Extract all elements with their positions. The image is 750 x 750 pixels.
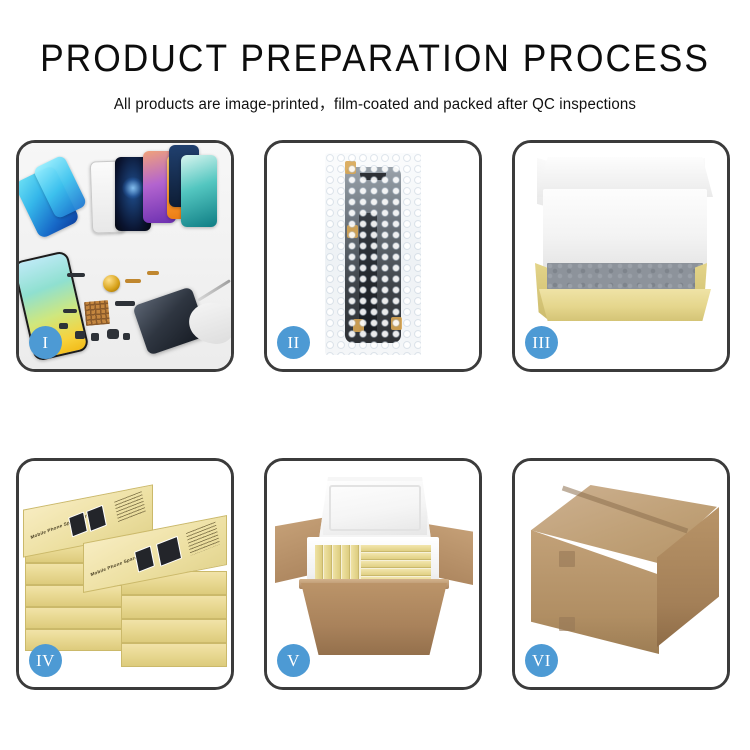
box-edge [121,595,227,619]
packed-box-horizontal [361,553,431,560]
carton-body-icon [301,583,447,655]
component-icon [59,323,68,329]
box-edge [121,619,227,643]
step-panel-5[interactable]: V [264,458,482,690]
box-edge [25,607,123,629]
page-title: PRODUCT PREPARATION PROCESS [26,40,724,78]
packed-box-vertical [324,545,332,583]
component-icon [75,331,85,339]
box-edge [121,643,227,667]
phone-screen-teal-icon [181,155,217,227]
styrofoam-lid-icon [319,477,431,539]
step-badge-6: VI [525,644,558,677]
box-spec-lines [114,491,146,522]
packed-box-horizontal [361,569,431,576]
sealed-carton-icon [531,485,717,657]
packed-box-vertical [342,545,350,583]
grey-foam-padding-icon [547,263,703,291]
carton-tape-lower [559,617,575,631]
packed-box-vertical [351,545,359,583]
packed-box-vertical [315,545,323,583]
ribbon-cable-icon [115,301,135,306]
packed-box-horizontal [361,545,431,552]
step-badge-1: I [29,326,62,359]
carton-tape-upper [559,551,575,567]
box-edge [25,585,123,607]
small-part-icon [67,273,85,277]
connector-chip-icon [84,300,110,326]
packed-box-horizontal [361,561,431,568]
packed-boxes-horizontal-group [361,545,431,583]
step-panel-1[interactable]: I [16,140,234,372]
step-badge-4: IV [29,644,62,677]
step-panel-6[interactable]: VI [512,458,730,690]
header: PRODUCT PREPARATION PROCESS All products… [0,0,750,114]
packed-boxes-area [315,545,431,583]
camera-module-icon [107,329,119,339]
speaker-coil-icon [103,275,120,292]
box-product-thumbnail [86,505,107,532]
bubble-texture-icon [325,153,421,355]
step-panel-2[interactable]: II [264,140,482,372]
box-product-thumbnail [134,545,155,572]
box-stack-icon: Mobile Phone Spare Parts Mobile Phone Sp… [23,475,231,675]
process-step-grid: I II [16,140,734,690]
step-badge-5: V [277,644,310,677]
component-icon [123,333,130,340]
step-badge-3: III [525,326,558,359]
step-panel-4[interactable]: Mobile Phone Spare Parts Mobile Phone Sp… [16,458,234,690]
white-foam-sheet-icon [543,189,707,267]
kraft-box-front-icon [539,289,711,321]
component-icon [63,309,77,313]
component-icon [91,333,99,341]
packed-box-vertical [333,545,341,583]
step-panel-3[interactable]: III [512,140,730,372]
product-preparation-infographic: PRODUCT PREPARATION PROCESS All products… [0,0,750,750]
flex-cable-small-icon [147,271,159,275]
box-product-thumbnail [156,536,182,567]
page-subtitle: All products are image-printed，film-coat… [11,92,739,114]
bubble-wrap-bag-icon [325,153,421,355]
box-spec-lines [186,522,220,556]
flex-cable-icon [125,279,141,283]
step-badge-2: II [277,326,310,359]
